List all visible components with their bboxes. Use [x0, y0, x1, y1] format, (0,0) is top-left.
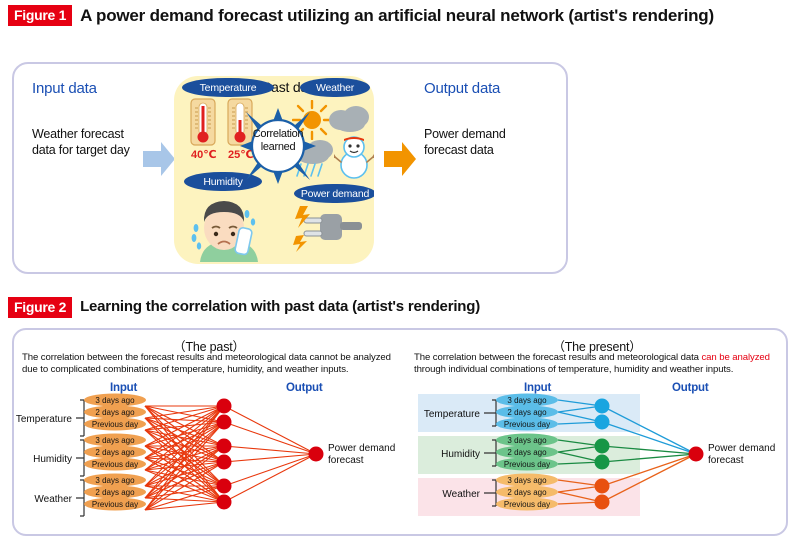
svg-text:3 days ago: 3 days ago [507, 476, 547, 485]
svg-text:2 days ago: 2 days ago [95, 408, 135, 417]
orange-arrow-icon [384, 142, 416, 176]
svg-text:Previous day: Previous day [504, 500, 550, 509]
present-group-label-humidity: Humidity [441, 449, 480, 460]
svg-text:3 days ago: 3 days ago [507, 436, 547, 445]
temperature-value-1: 40℃ [191, 148, 217, 161]
input-data-text: Weather forecast data for target day [32, 126, 142, 158]
output-data-label: Output data [424, 80, 500, 97]
svg-text:Previous day: Previous day [92, 460, 138, 469]
past-group-brackets [76, 400, 84, 516]
past-output-node [309, 447, 324, 462]
pill-power-demand: Power demand [294, 184, 374, 203]
figure1-header: Figure 1A power demand forecast utilizin… [8, 5, 714, 26]
subpanel-the-past: （The past） The correlation between the f… [14, 330, 404, 534]
present-output-text-line2: forecast [708, 455, 744, 466]
past-input-pills: 3 days ago 2 days ago Previous day 3 day… [84, 394, 146, 511]
subpanel-the-present: （The present） The correlation between th… [406, 330, 788, 534]
thermometer-icon-1 [186, 98, 220, 148]
svg-text:2 days ago: 2 days ago [95, 448, 135, 457]
present-input-pills: 3 days ago 2 days ago Previous day 3 day… [496, 394, 558, 511]
figure1-badge: Figure 1 [8, 5, 72, 26]
svg-text:Previous day: Previous day [92, 420, 138, 429]
figure2-panel: （The past） The correlation between the f… [12, 328, 788, 536]
power-plug-icon [292, 202, 368, 252]
past-data-yellow-box: Past data Temperature Humidity Weather P… [174, 76, 374, 264]
figure2-header: Figure 2Learning the correlation with pa… [8, 297, 480, 318]
present-output-node [689, 447, 704, 462]
past-hidden-nodes [217, 399, 232, 510]
svg-text:3 days ago: 3 days ago [95, 436, 135, 445]
input-data-label: Input data [32, 80, 97, 97]
past-group-label-temperature: Temperature [16, 414, 73, 425]
svg-text:2 days ago: 2 days ago [95, 488, 135, 497]
figure1-panel: Input data Weather forecast data for tar… [12, 62, 568, 274]
correlation-learned-text: Correlation learned [240, 128, 316, 154]
svg-text:Previous day: Previous day [504, 460, 550, 469]
pill-weather: Weather [300, 78, 370, 97]
cloud-icon [328, 104, 372, 132]
past-output-text-line1: Power demand [328, 443, 395, 454]
svg-text:3 days ago: 3 days ago [95, 396, 135, 405]
correlation-line1: Correlation [240, 128, 316, 141]
figure2-title: Learning the correlation with past data … [80, 297, 480, 316]
past-group-label-humidity: Humidity [33, 454, 72, 465]
present-group-label-temperature: Temperature [424, 409, 481, 420]
figure1-title: A power demand forecast utilizing an art… [80, 5, 714, 26]
svg-text:2 days ago: 2 days ago [507, 408, 547, 417]
past-network-diagram: Temperature Humidity Weather 3 days ago … [14, 330, 404, 534]
output-data-text: Power demand forecast data [424, 126, 539, 158]
snowman-icon [334, 134, 374, 180]
svg-text:2 days ago: 2 days ago [507, 448, 547, 457]
humid-person-icon [188, 192, 262, 262]
present-output-text-line1: Power demand [708, 443, 775, 454]
blue-arrow-icon [143, 142, 175, 176]
present-group-label-weather: Weather [442, 489, 480, 500]
correlation-line2: learned [240, 141, 316, 154]
svg-text:Previous day: Previous day [92, 500, 138, 509]
svg-text:3 days ago: 3 days ago [95, 476, 135, 485]
svg-text:Previous day: Previous day [504, 420, 550, 429]
pill-temperature: Temperature [182, 78, 274, 97]
past-output-text-line2: forecast [328, 455, 364, 466]
svg-text:3 days ago: 3 days ago [507, 396, 547, 405]
past-group-label-weather: Weather [34, 494, 72, 505]
svg-text:2 days ago: 2 days ago [507, 488, 547, 497]
figure2-badge: Figure 2 [8, 297, 72, 318]
present-network-diagram: Temperature Humidity Weather 3 days ago … [406, 330, 788, 534]
